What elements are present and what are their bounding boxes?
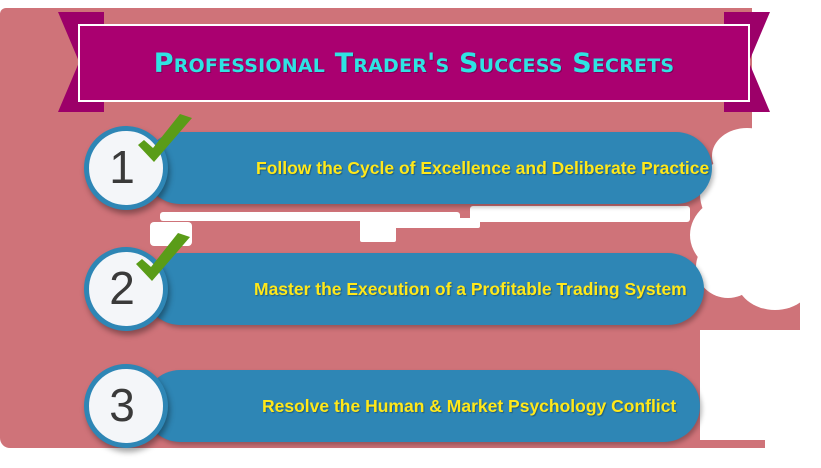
- background-streak: [368, 214, 396, 242]
- step-bar[interactable]: Follow the Cycle of Excellence and Delib…: [144, 132, 712, 204]
- step-number: 1: [109, 144, 135, 190]
- step-bar[interactable]: Master the Execution of a Profitable Tra…: [144, 253, 704, 325]
- step-number: 3: [109, 382, 135, 428]
- title-ribbon: Professional Trader's Success Secrets: [58, 12, 770, 112]
- ribbon-body: Professional Trader's Success Secrets: [78, 24, 750, 102]
- canvas-margin: [800, 0, 821, 462]
- step-bar[interactable]: Resolve the Human & Market Psychology Co…: [144, 370, 700, 442]
- step-label: Follow the Cycle of Excellence and Delib…: [256, 158, 709, 179]
- infographic-canvas: Professional Trader's Success Secrets Fo…: [0, 0, 821, 462]
- step-number-badge: 3: [84, 364, 168, 448]
- step-number-badge: 1: [84, 126, 168, 210]
- background-streak: [700, 330, 774, 440]
- step-number: 2: [109, 265, 135, 311]
- page-title: Professional Trader's Success Secrets: [154, 48, 675, 79]
- canvas-margin: [0, 448, 821, 468]
- background-streak: [470, 206, 690, 222]
- step-label: Master the Execution of a Profitable Tra…: [254, 279, 687, 300]
- canvas-margin: [0, 0, 821, 8]
- step-number-badge: 2: [84, 247, 168, 331]
- background-streak: [150, 222, 192, 246]
- step-label: Resolve the Human & Market Psychology Co…: [262, 396, 676, 417]
